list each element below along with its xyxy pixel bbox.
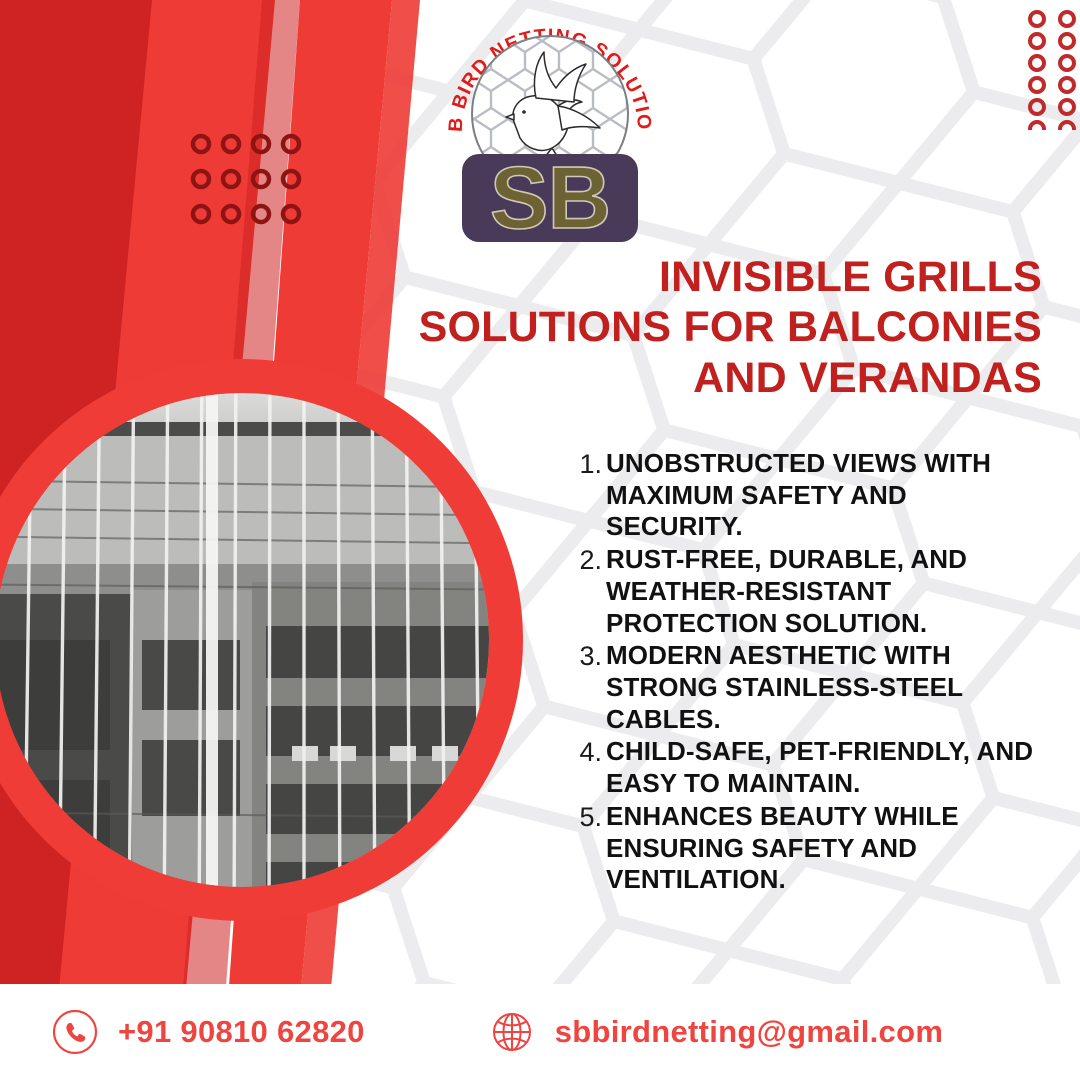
globe-icon: [489, 1009, 535, 1055]
poster-canvas: SB BIRD NETTING SOLUTION SB IN: [0, 0, 1080, 1080]
list-item-number: 5.: [572, 801, 606, 834]
brand-logo: SB BIRD NETTING SOLUTION SB: [440, 2, 660, 247]
contact-phone[interactable]: +91 90810 62820: [52, 1009, 365, 1055]
headline-line-2: SOLUTIONS FOR BALCONIES: [360, 302, 1042, 352]
logo-badge-text: SB: [490, 148, 610, 247]
list-item-number: 2.: [572, 544, 606, 577]
phone-number: +91 90810 62820: [118, 1014, 365, 1050]
headline-line-1: INVISIBLE GRILLS: [360, 252, 1042, 302]
contact-email[interactable]: sbbirdnetting@gmail.com: [489, 1009, 943, 1055]
list-item-number: 3.: [572, 640, 606, 673]
list-item-label: ENHANCES BEAUTY WHILE ENSURING SAFETY AN…: [606, 801, 1042, 896]
dot-grid-right-icon: [1026, 8, 1080, 130]
list-item: 4. CHILD-SAFE, PET-FRIENDLY, AND EASY TO…: [572, 736, 1042, 799]
circular-building-photo: [0, 340, 542, 940]
list-item-label: CHILD-SAFE, PET-FRIENDLY, AND EASY TO MA…: [606, 736, 1042, 799]
benefits-list: 1. UNOBSTRUCTED VIEWS WITH MAXIMUM SAFET…: [572, 448, 1042, 897]
page-title: INVISIBLE GRILLS SOLUTIONS FOR BALCONIES…: [360, 252, 1042, 403]
list-item: 3. MODERN AESTHETIC WITH STRONG STAINLES…: [572, 640, 1042, 735]
list-item: 1. UNOBSTRUCTED VIEWS WITH MAXIMUM SAFET…: [572, 448, 1042, 543]
phone-icon: [52, 1009, 98, 1055]
list-item-label: RUST-FREE, DURABLE, AND WEATHER-RESISTAN…: [606, 544, 1042, 639]
list-item: 2. RUST-FREE, DURABLE, AND WEATHER-RESIS…: [572, 544, 1042, 639]
list-item: 5. ENHANCES BEAUTY WHILE ENSURING SAFETY…: [572, 801, 1042, 896]
list-item-number: 4.: [572, 736, 606, 769]
dot-grid-left-icon: [190, 133, 308, 225]
list-item-number: 1.: [572, 448, 606, 481]
list-item-label: UNOBSTRUCTED VIEWS WITH MAXIMUM SAFETY A…: [606, 448, 1042, 543]
footer-contact-bar: +91 90810 62820 sbbirdnetting@gmail.com: [0, 984, 1080, 1080]
email-address: sbbirdnetting@gmail.com: [555, 1014, 943, 1050]
headline-line-3: AND VERANDAS: [360, 353, 1042, 403]
list-item-label: MODERN AESTHETIC WITH STRONG STAINLESS-S…: [606, 640, 1042, 735]
